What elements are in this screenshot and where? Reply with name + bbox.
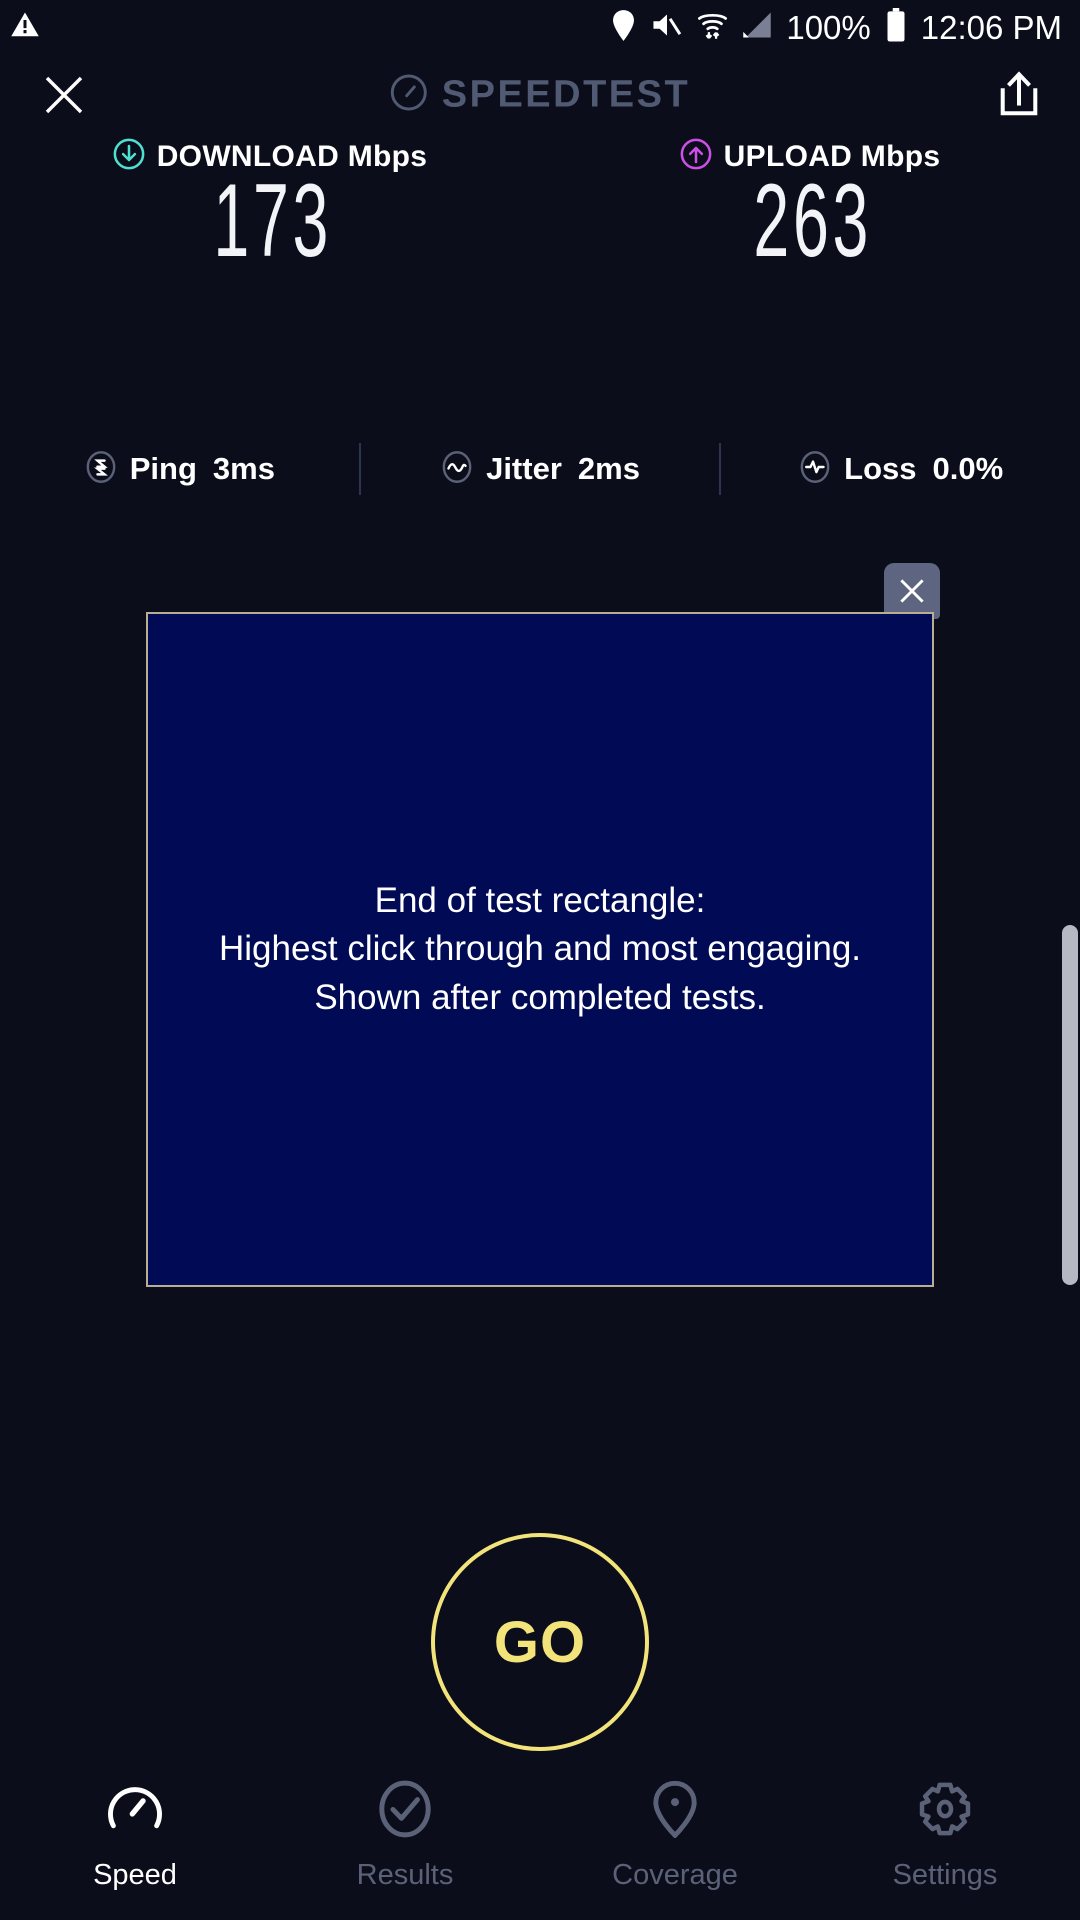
upload-result: UPLOAD Mbps 263 <box>540 138 1080 273</box>
status-bar: 100% 12:06 PM <box>0 0 1080 55</box>
jitter-label: Jitter <box>486 451 562 487</box>
vertical-scrollbar[interactable] <box>1062 925 1078 1285</box>
warning-triangle-icon <box>10 10 40 45</box>
results-summary: DOWNLOAD Mbps 173 UPLOAD <box>0 138 1080 273</box>
check-circle-icon <box>376 1780 434 1843</box>
loss-icon <box>798 450 832 489</box>
share-icon <box>996 70 1042 120</box>
status-bar-right: 100% 12:06 PM <box>610 8 1062 47</box>
clock-label: 12:06 PM <box>921 11 1062 44</box>
ping-metric: Ping 3ms <box>0 450 359 489</box>
share-button[interactable] <box>988 64 1050 126</box>
arrow-up-circle-icon <box>680 138 712 175</box>
go-button-label: GO <box>494 1609 586 1676</box>
speedometer-icon <box>390 74 428 117</box>
ping-value: 3ms <box>213 451 275 487</box>
ping-icon <box>84 450 118 489</box>
loss-value: 0.0% <box>933 451 1004 487</box>
nav-label-speed: Speed <box>93 1859 177 1892</box>
wifi-icon <box>697 9 728 46</box>
nav-item-coverage[interactable]: Coverage <box>540 1752 810 1920</box>
nav-item-results[interactable]: Results <box>270 1752 540 1920</box>
close-icon <box>895 574 929 608</box>
location-pin-icon <box>610 9 637 47</box>
speed-row: DOWNLOAD Mbps 173 UPLOAD <box>0 138 1080 273</box>
loss-metric: Loss 0.0% <box>721 450 1080 489</box>
loss-label: Loss <box>844 451 916 487</box>
status-bar-left <box>10 10 40 45</box>
nav-item-speed[interactable]: Speed <box>0 1752 270 1920</box>
battery-full-icon <box>885 8 907 47</box>
bottom-navigation: Speed Results Coverage <box>0 1752 1080 1920</box>
brand-title: SPEEDTEST <box>442 74 690 117</box>
ad-text: End of test rectangle: Highest click thr… <box>219 877 861 1022</box>
speedometer-icon <box>106 1780 164 1843</box>
go-button[interactable]: GO <box>431 1533 649 1751</box>
brand: SPEEDTEST <box>390 74 690 117</box>
upload-unit: Mbps <box>861 140 941 173</box>
jitter-icon <box>440 450 474 489</box>
nav-label-settings: Settings <box>893 1859 998 1892</box>
cellular-signal-icon <box>742 11 772 44</box>
ping-label: Ping <box>130 451 197 487</box>
jitter-value: 2ms <box>578 451 640 487</box>
battery-percent-label: 100% <box>786 11 870 44</box>
download-unit: Mbps <box>348 140 428 173</box>
app-header: SPEEDTEST <box>0 55 1080 135</box>
close-icon <box>40 71 88 119</box>
close-button[interactable] <box>32 63 96 127</box>
download-value: 173 <box>214 169 333 273</box>
jitter-metric: Jitter 2ms <box>361 450 720 489</box>
mute-icon <box>651 10 683 45</box>
speedtest-app-screen: 100% 12:06 PM SPEEDTEST <box>0 0 1080 1920</box>
nav-item-settings[interactable]: Settings <box>810 1752 1080 1920</box>
arrow-down-circle-icon <box>113 138 145 175</box>
nav-label-results: Results <box>357 1859 454 1892</box>
upload-value: 263 <box>754 169 873 273</box>
ad-close-button[interactable] <box>884 563 940 619</box>
download-result: DOWNLOAD Mbps 173 <box>0 138 540 273</box>
location-pin-icon <box>646 1780 704 1843</box>
nav-label-coverage: Coverage <box>612 1859 738 1892</box>
advertisement-banner[interactable]: End of test rectangle: Highest click thr… <box>146 612 934 1287</box>
connection-metrics-row: Ping 3ms Jitter 2ms <box>0 443 1080 495</box>
gear-icon <box>916 1780 974 1843</box>
